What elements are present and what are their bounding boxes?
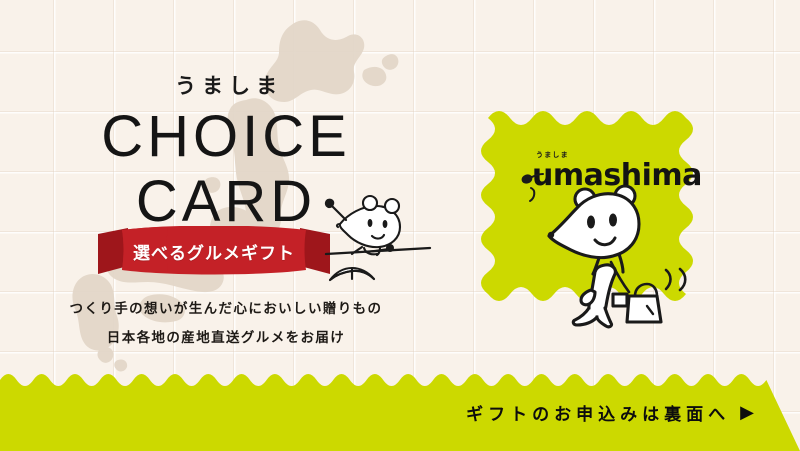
motion-lines-icon	[660, 266, 694, 294]
arrow-right-icon: ▶	[740, 404, 754, 422]
footer-cta[interactable]: ギフトのお申込みは裏面へ ▶	[466, 400, 754, 425]
gift-card-hero: うましま CHOICE CARD つくり手の想いが生んだ心においしい贈りもの 日…	[0, 0, 800, 451]
page-title-line-1: CHOICE	[0, 103, 452, 170]
tagline-secondary: 日本各地の産地直送グルメをお届け	[0, 326, 452, 346]
ribbon-label: 選べるグルメギフト	[98, 239, 330, 264]
tagline-primary: つくり手の想いが生んだ心においしい贈りもの	[0, 297, 452, 317]
music-note-icon	[520, 170, 556, 212]
footer-bar[interactable]: ギフトのお申込みは裏面へ ▶	[0, 366, 800, 451]
logo-wordmark: umashima	[532, 158, 702, 193]
ribbon-badge: 選べるグルメギフト	[98, 226, 330, 276]
brand-kana: うましま	[0, 70, 452, 100]
bear-reading-book-icon	[322, 192, 437, 284]
footer-cta-text: ギフトのお申込みは裏面へ	[466, 400, 730, 425]
umashima-logo-card: うましま umashima	[474, 102, 722, 346]
bear-with-bag-icon	[547, 180, 699, 332]
